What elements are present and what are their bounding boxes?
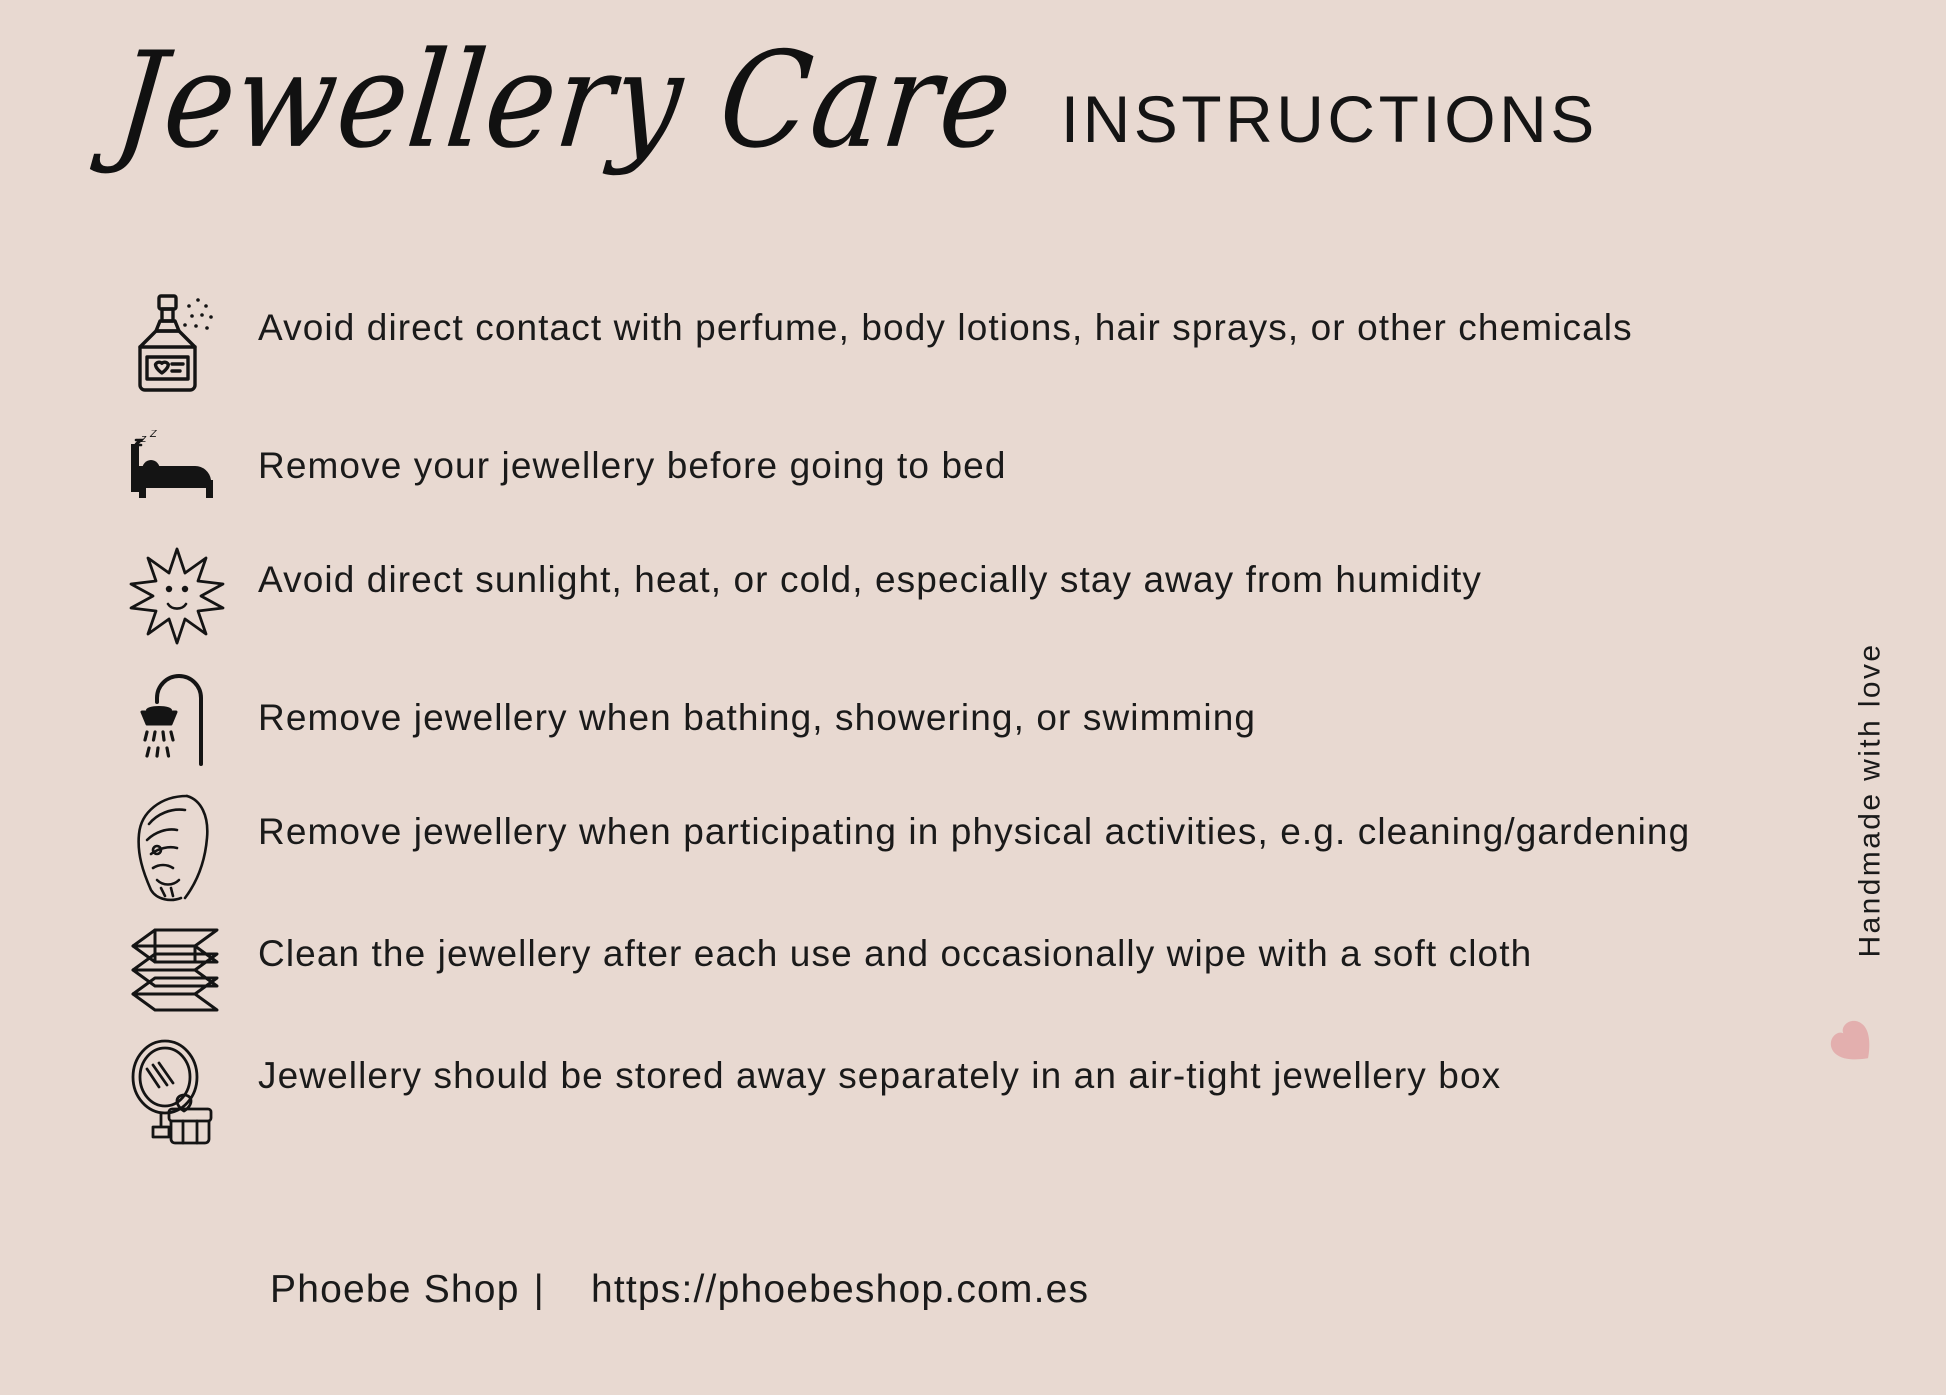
list-item: Jewellery should be stored away separate… (118, 1036, 1738, 1148)
page-title-instructions: INSTRUCTIONS (1061, 86, 1598, 152)
list-item: z Z Remove your jewellery before going t… (118, 410, 1738, 522)
footer-separator: | (534, 1268, 545, 1312)
sun-icon (118, 540, 236, 652)
list-item: Avoid direct contact with perfume, body … (118, 288, 1738, 400)
handmade-note: Handmade with love (1848, 600, 1894, 1000)
svg-text:Z: Z (149, 430, 158, 440)
perfume-bottle-icon (118, 288, 236, 400)
folded-cloth-icon (118, 914, 236, 1026)
list-item: Remove jewellery when bathing, showering… (118, 662, 1738, 774)
list-item-text: Remove jewellery when bathing, showering… (258, 662, 1738, 745)
page-title-script: Jewellery Care (100, 34, 1019, 166)
list-item-text: Jewellery should be stored away separate… (258, 1036, 1738, 1103)
list-item-text: Remove jewellery when participating in p… (258, 792, 1738, 859)
shop-name: Phoebe Shop (270, 1268, 520, 1312)
list-item: Remove jewellery when participating in p… (118, 792, 1738, 904)
list-item-text: Clean the jewellery after each use and o… (258, 914, 1738, 981)
mirror-jewellery-box-icon (118, 1036, 236, 1148)
bed-sleep-icon: z Z (118, 410, 236, 522)
card-header: Jewellery Care INSTRUCTIONS (100, 48, 1800, 218)
svg-text:z: z (140, 433, 147, 445)
list-item: Clean the jewellery after each use and o… (118, 914, 1738, 1026)
woman-face-icon (118, 792, 236, 904)
list-item-text: Avoid direct contact with perfume, body … (258, 288, 1738, 355)
list-item-text: Remove your jewellery before going to be… (258, 410, 1738, 493)
heart-icon (1828, 1018, 1880, 1070)
instructions-list: Avoid direct contact with perfume, body … (118, 288, 1738, 1158)
jewellery-care-card: Jewellery Care INSTRUCTIONS (0, 0, 1946, 1395)
footer: Phoebe Shop | https://phoebeshop.com.es (270, 1268, 1089, 1312)
list-item: Avoid direct sunlight, heat, or cold, es… (118, 540, 1738, 652)
shop-website-link[interactable]: https://phoebeshop.com.es (591, 1268, 1089, 1312)
shower-icon (118, 662, 236, 774)
handmade-note-label: Handmade with love (1854, 642, 1888, 957)
list-item-text: Avoid direct sunlight, heat, or cold, es… (258, 540, 1738, 607)
